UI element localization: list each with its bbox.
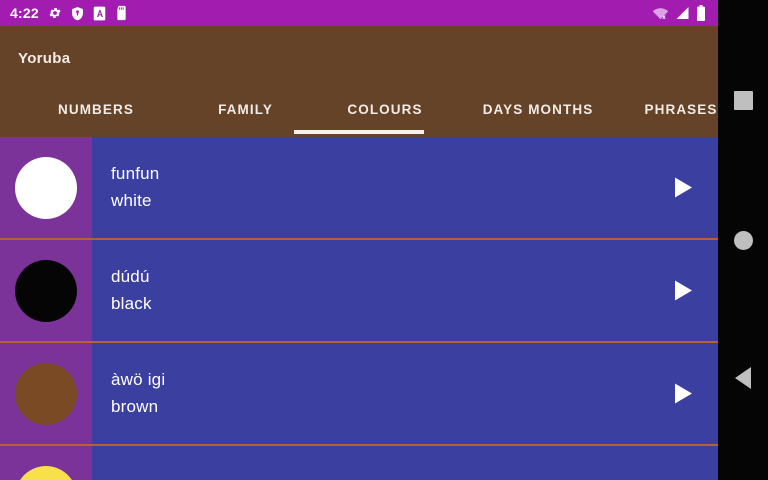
settings-gear-icon [48,6,62,20]
play-arrow-icon[interactable] [648,137,718,238]
list-item[interactable]: funfun white [0,137,718,240]
status-bar-clock: 4:22 [10,6,39,20]
word-translation: brown [111,394,648,420]
yellow-colour-swatch [15,466,77,480]
home-button[interactable] [718,215,768,265]
list-item[interactable]: dúdú black [0,240,718,343]
back-button[interactable] [718,353,768,403]
black-colour-swatch [15,260,77,322]
list-item-text: dúdú black [92,240,648,341]
swatch-cell [0,137,92,238]
letter-a-box-icon [93,6,106,21]
shield-icon [71,6,84,21]
tab-days-months[interactable]: DAYS MONTHS [472,93,604,117]
wifi-off-icon: x [652,6,669,20]
tab-colours[interactable]: COLOURS [320,93,450,117]
list-item-text [92,446,648,480]
tab-phrases[interactable]: PHRASES [626,93,718,117]
play-arrow-icon[interactable] [648,446,718,480]
sd-card-icon [115,5,128,21]
list-item-text: funfun white [92,137,648,238]
screen: 4:22 [0,0,768,480]
tab-family[interactable]: FAMILY [193,93,298,117]
colour-list: funfun white dúdú black [0,137,718,480]
cellular-signal-icon [675,6,690,20]
system-navigation-bar [718,0,768,480]
svg-text:x: x [662,14,666,20]
word-translation: white [111,188,648,214]
status-bar-right: x [652,5,710,21]
app-bar: Yoruba [0,26,718,90]
tab-selected-indicator [294,130,424,134]
battery-icon [696,5,706,21]
phone-viewport: 4:22 [0,0,718,480]
tab-numbers[interactable]: NUMBERS [25,93,167,117]
word-translation: black [111,291,648,317]
play-arrow-icon[interactable] [648,343,718,444]
circle-icon [734,231,753,250]
status-bar: 4:22 [0,0,718,26]
word-native: funfun [111,161,648,187]
swatch-cell [0,240,92,341]
list-item-text: àwö igi brown [92,343,648,444]
tab-bar: NUMBERS FAMILY COLOURS DAYS MONTHS PHRAS… [0,90,718,137]
brown-colour-swatch [15,363,77,425]
word-native: dúdú [111,264,648,290]
swatch-cell [0,343,92,444]
app-title: Yoruba [18,50,70,67]
play-arrow-icon[interactable] [648,240,718,341]
square-icon [734,91,753,110]
word-native: àwö igi [111,367,648,393]
list-item[interactable] [0,446,718,480]
status-bar-left: 4:22 [10,5,128,21]
white-colour-swatch [15,157,77,219]
triangle-left-icon [735,367,751,389]
list-item[interactable]: àwö igi brown [0,343,718,446]
swatch-cell [0,446,92,480]
recents-button[interactable] [718,75,768,125]
